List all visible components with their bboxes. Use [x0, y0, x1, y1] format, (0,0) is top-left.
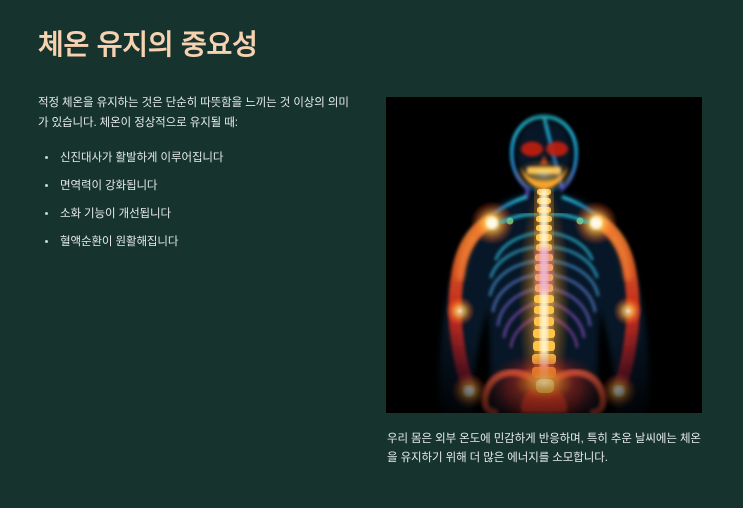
- bullet-dot-icon: [45, 156, 48, 159]
- bullet-dot-icon: [45, 184, 48, 187]
- anatomy-figure: 우리 몸은 외부 온도에 민감하게 반응하며, 특히 추운 날씨에는 체온을 유…: [386, 97, 702, 468]
- figure-caption: 우리 몸은 외부 온도에 민감하게 반응하며, 특히 추운 날씨에는 체온을 유…: [387, 430, 702, 468]
- list-item: 면역력이 강화됩니다: [38, 178, 358, 194]
- bullet-dot-icon: [45, 240, 48, 243]
- list-item: 소화 기능이 개선됩니다: [38, 206, 358, 222]
- slide-root: 체온 유지의 중요성 적정 체온을 유지하는 것은 단순히 따뜻함을 느끼는 것…: [0, 0, 743, 508]
- anatomy-image: [386, 97, 702, 413]
- list-item-label: 소화 기능이 개선됩니다: [60, 208, 171, 220]
- benefit-list: 신진대사가 활발하게 이루어집니다 면역력이 강화됩니다 소화 기능이 개선됩니…: [38, 150, 358, 250]
- list-item: 신진대사가 활발하게 이루어집니다: [38, 150, 358, 166]
- text-column: 적정 체온을 유지하는 것은 단순히 따뜻함을 느끼는 것 이상의 의미가 있습…: [38, 94, 358, 250]
- page-title: 체온 유지의 중요성: [38, 27, 258, 62]
- intro-paragraph: 적정 체온을 유지하는 것은 단순히 따뜻함을 느끼는 것 이상의 의미가 있습…: [38, 94, 358, 134]
- thermal-skeleton-illustration: [386, 97, 702, 413]
- list-item-label: 혈액순환이 원활해집니다: [60, 236, 178, 248]
- bullet-dot-icon: [45, 212, 48, 215]
- list-item: 혈액순환이 원활해집니다: [38, 234, 358, 250]
- list-item-label: 신진대사가 활발하게 이루어집니다: [60, 152, 223, 164]
- list-item-label: 면역력이 강화됩니다: [60, 180, 157, 192]
